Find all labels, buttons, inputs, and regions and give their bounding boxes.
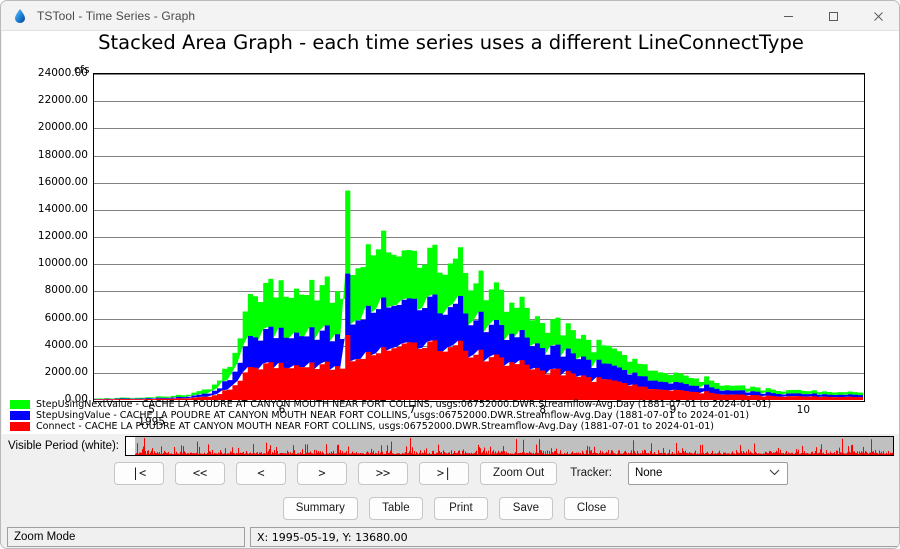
minimize-button[interactable] bbox=[766, 1, 811, 31]
legend-item[interactable]: Connect - CACHE LA POUDRE AT CANYON MOUT… bbox=[2, 421, 900, 432]
tracker-label: Tracker: bbox=[570, 467, 612, 479]
window-title: TSTool - Time Series - Graph bbox=[37, 9, 195, 23]
graph-canvas[interactable]: Stacked Area Graph - each time series us… bbox=[2, 31, 900, 434]
graph-title: Stacked Area Graph - each time series us… bbox=[2, 31, 900, 54]
y-axis-tick-label: 4000.00 bbox=[8, 339, 88, 351]
y-axis-tick-label: 12000.00 bbox=[8, 230, 88, 242]
coordinates-status: X: 1995-05-19, Y: 13680.00 bbox=[250, 527, 900, 547]
summary-button[interactable]: Summary bbox=[283, 497, 358, 520]
window-controls bbox=[766, 1, 900, 31]
y-axis-tick-label: 22000.00 bbox=[8, 94, 88, 106]
visible-period-selection[interactable] bbox=[126, 437, 135, 455]
close-window-button[interactable] bbox=[856, 1, 900, 31]
plot-area[interactable] bbox=[93, 73, 865, 402]
chevron-down-icon bbox=[769, 467, 780, 479]
navigation-toolbar: |< << < > >> >| Zoom Out Tracker: None bbox=[2, 460, 900, 486]
y-axis-tick-label: 8000.00 bbox=[8, 284, 88, 296]
droplet-icon bbox=[12, 8, 28, 24]
legend-label: StepUsingNextValue - CACHE LA POUDRE AT … bbox=[36, 400, 771, 410]
zoom-out-button[interactable]: Zoom Out bbox=[480, 462, 557, 485]
step-forward-button[interactable]: > bbox=[297, 462, 347, 485]
tracker-value: None bbox=[635, 467, 663, 479]
save-button[interactable]: Save bbox=[499, 497, 553, 520]
legend-swatch bbox=[10, 400, 30, 409]
y-axis-tick-label: 6000.00 bbox=[8, 312, 88, 324]
title-bar: TSTool - Time Series - Graph bbox=[1, 1, 900, 31]
stacked-area-series bbox=[94, 74, 863, 400]
tstool-graph-window: TSTool - Time Series - Graph Stacked Are… bbox=[0, 0, 900, 549]
step-back-button[interactable]: < bbox=[236, 462, 286, 485]
maximize-button[interactable] bbox=[811, 1, 856, 31]
y-axis-tick-label: 10000.00 bbox=[8, 257, 88, 269]
y-axis-tick-label: 14000.00 bbox=[8, 203, 88, 215]
legend-label: StepUsingValue - CACHE LA POUDRE AT CANY… bbox=[36, 411, 749, 421]
table-button[interactable]: Table bbox=[369, 497, 423, 520]
legend-label: Connect - CACHE LA POUDRE AT CANYON MOUT… bbox=[36, 422, 714, 432]
legend-swatch bbox=[10, 422, 30, 431]
tracker-select[interactable]: None bbox=[628, 462, 788, 485]
visible-period-label: Visible Period (white): bbox=[8, 440, 119, 452]
legend: StepUsingNextValue - CACHE LA POUDRE AT … bbox=[2, 399, 900, 432]
status-bar: Zoom Mode X: 1995-05-19, Y: 13680.00 bbox=[2, 525, 900, 549]
close-button[interactable]: Close bbox=[564, 497, 619, 520]
legend-item[interactable]: StepUsingValue - CACHE LA POUDRE AT CANY… bbox=[2, 410, 900, 421]
y-axis-tick-label: 18000.00 bbox=[8, 149, 88, 161]
reference-graph[interactable] bbox=[125, 436, 894, 456]
print-button[interactable]: Print bbox=[434, 497, 488, 520]
y-axis-tick-label: 24000.00 bbox=[8, 67, 88, 79]
y-axis-tick-label: 16000.00 bbox=[8, 176, 88, 188]
page-forward-button[interactable]: >> bbox=[358, 462, 408, 485]
y-axis-tick-label: 2000.00 bbox=[8, 366, 88, 378]
action-toolbar: Summary Table Print Save Close bbox=[2, 495, 900, 521]
legend-item[interactable]: StepUsingNextValue - CACHE LA POUDRE AT … bbox=[2, 399, 900, 410]
first-button[interactable]: |< bbox=[114, 462, 164, 485]
reference-graph-bars bbox=[126, 437, 894, 455]
legend-swatch bbox=[10, 411, 30, 420]
last-button[interactable]: >| bbox=[419, 462, 469, 485]
visible-period-row: Visible Period (white): bbox=[2, 435, 900, 457]
page-back-button[interactable]: << bbox=[175, 462, 225, 485]
mode-status: Zoom Mode bbox=[7, 527, 245, 547]
y-axis-tick-label: 20000.00 bbox=[8, 121, 88, 133]
